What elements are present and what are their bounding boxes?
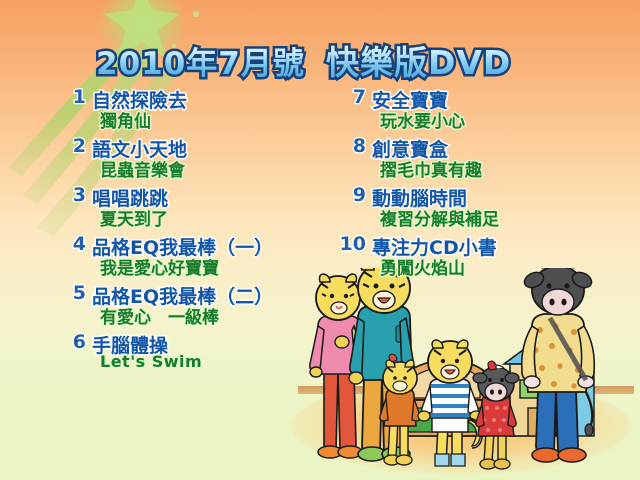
list-item[interactable]: 2 語文小天地 昆蟲音樂會 (56, 135, 336, 184)
item-number: 1 (56, 86, 86, 108)
list-item[interactable]: 10 專注力CD小書 勇闖火焰山 (336, 233, 626, 282)
item-subtitle: 玩水要小心 (380, 107, 465, 132)
item-number: 2 (56, 135, 86, 157)
item-subtitle: 有愛心 一級棒 (100, 303, 219, 328)
item-subtitle: Let's Swim (100, 352, 202, 371)
item-subtitle: 複習分解與補足 (380, 205, 499, 230)
item-number: 10 (336, 233, 366, 255)
item-number: 5 (56, 282, 86, 304)
issue-title-fill: 2010年7月號 (96, 38, 305, 83)
item-number: 4 (56, 233, 86, 255)
item-subtitle: 摺毛巾真有趣 (380, 156, 482, 181)
program-list-left: 1 自然探險去 獨角仙 2 語文小天地 昆蟲音樂會 3 唱唱跳跳 夏天到了 4 … (56, 86, 336, 380)
item-subtitle: 昆蟲音樂會 (100, 156, 185, 181)
tiger-family-illustration (292, 268, 640, 480)
list-item[interactable]: 9 動動腦時間 複習分解與補足 (336, 184, 626, 233)
list-item[interactable]: 1 自然探險去 獨角仙 (56, 86, 336, 135)
item-subtitle: 夏天到了 (100, 205, 168, 230)
list-item[interactable]: 5 品格EQ我最棒（二） 有愛心 一級棒 (56, 282, 336, 331)
item-number: 6 (56, 331, 86, 353)
item-number: 7 (336, 86, 366, 108)
list-item[interactable]: 3 唱唱跳跳 夏天到了 (56, 184, 336, 233)
list-item[interactable]: 7 安全寶寶 玩水要小心 (336, 86, 626, 135)
edition-title-fill: 快樂版DVD (326, 36, 511, 84)
list-item[interactable]: 4 品格EQ我最棒（一） 我是愛心好寶寶 (56, 233, 336, 282)
item-subtitle: 我是愛心好寶寶 (100, 254, 219, 279)
item-number: 8 (336, 135, 366, 157)
item-subtitle: 獨角仙 (100, 107, 151, 132)
item-number: 9 (336, 184, 366, 206)
list-item[interactable]: 6 手腦體操 Let's Swim (56, 331, 336, 380)
dvd-menu-screen: 2010年7月號 2010年7月號 快樂版DVD 快樂版DVD (0, 0, 640, 480)
sparkle-icon (193, 11, 199, 17)
item-subtitle: 勇闖火焰山 (380, 254, 465, 279)
program-list-right: 7 安全寶寶 玩水要小心 8 創意寶盒 摺毛巾真有趣 9 動動腦時間 複習分解與… (336, 86, 626, 282)
character-cow-child-red (473, 361, 519, 469)
item-number: 3 (56, 184, 86, 206)
list-item[interactable]: 8 創意寶盒 摺毛巾真有趣 (336, 135, 626, 184)
character-tiger-child-striped (418, 340, 482, 466)
